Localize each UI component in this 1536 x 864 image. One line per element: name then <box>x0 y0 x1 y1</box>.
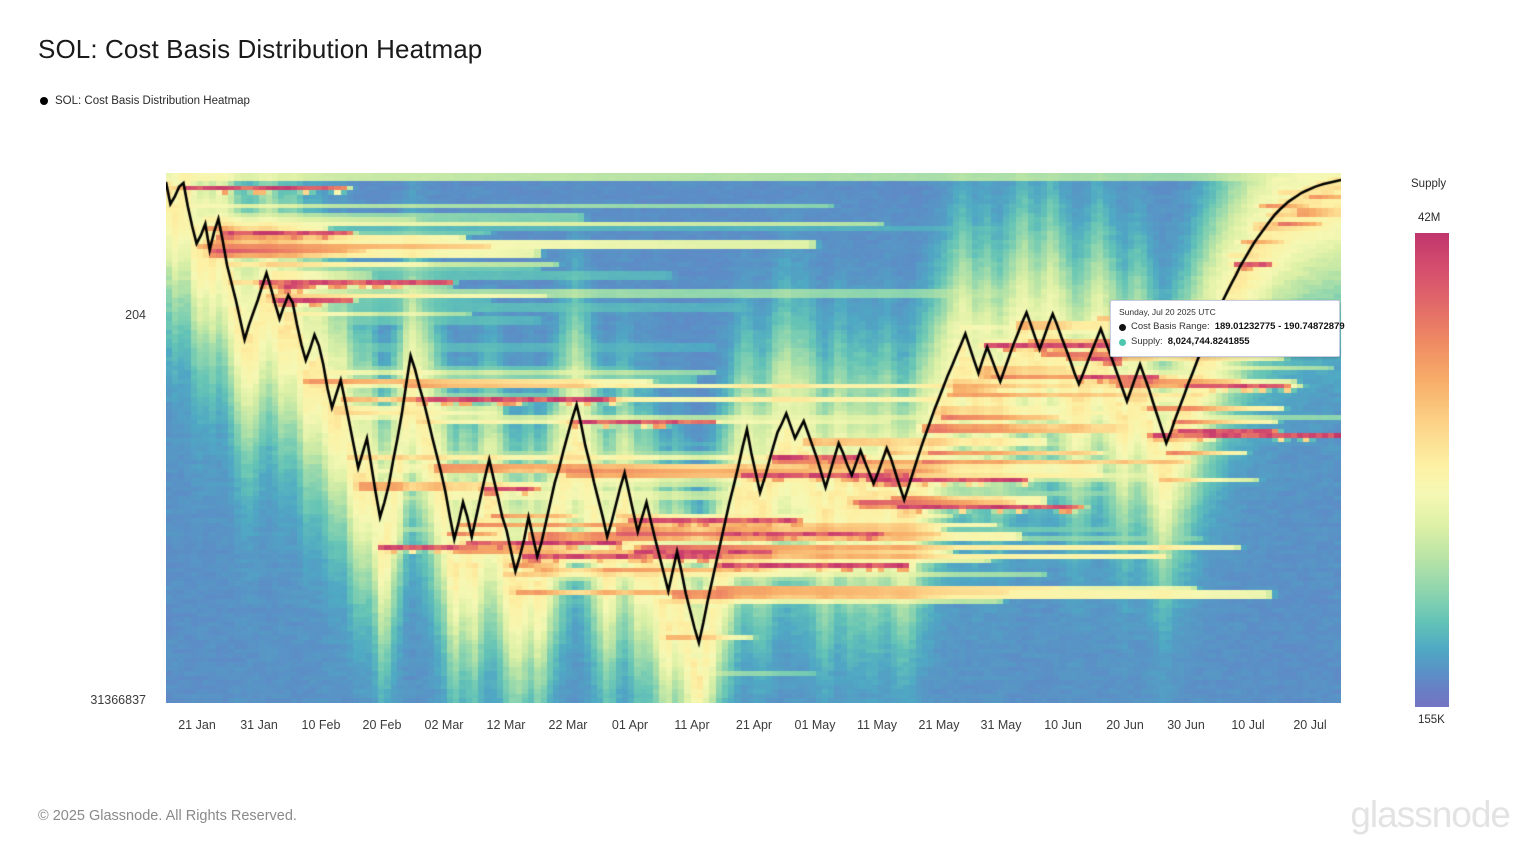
page-title: SOL: Cost Basis Distribution Heatmap <box>38 34 482 65</box>
x-tick-label: 12 Mar <box>487 718 526 732</box>
x-tick-label: 21 May <box>919 718 960 732</box>
x-tick-label: 02 Mar <box>425 718 464 732</box>
heatmap-plot[interactable] <box>166 173 1341 703</box>
x-tick-label: 30 Jun <box>1167 718 1205 732</box>
x-tick-label: 20 Feb <box>363 718 402 732</box>
colorbar-max-label: 42M <box>1418 212 1440 224</box>
y-axis: 204 31366837 <box>0 173 156 703</box>
x-axis: 21 Jan31 Jan10 Feb20 Feb02 Mar12 Mar22 M… <box>166 718 1341 740</box>
x-tick-label: 31 Jan <box>240 718 278 732</box>
chart-tooltip: Sunday, Jul 20 2025 UTC Cost Basis Range… <box>1110 300 1340 357</box>
x-tick-label: 10 Jun <box>1044 718 1082 732</box>
y-tick-upper: 204 <box>125 308 146 322</box>
glassnode-watermark-logo: glassnode <box>1350 794 1510 836</box>
x-tick-label: 20 Jun <box>1106 718 1144 732</box>
colorbar-gradient <box>1415 233 1449 707</box>
x-tick-label: 21 Apr <box>736 718 772 732</box>
x-tick-label: 22 Mar <box>549 718 588 732</box>
colorbar-legend: Supply 42M 155K <box>1380 176 1530 736</box>
footer-copyright: © 2025 Glassnode. All Rights Reserved. <box>38 808 297 824</box>
tooltip-row-cost-basis: Cost Basis Range: 189.01232775 - 190.748… <box>1119 320 1331 335</box>
tooltip-row-supply: Supply: 8,024,744.8241855 <box>1119 335 1331 350</box>
tooltip-label-supply: Supply: <box>1131 335 1163 350</box>
colorbar-min-label: 155K <box>1418 714 1445 726</box>
tooltip-value-cost-basis: 189.01232775 - 190.74872879 <box>1215 320 1345 335</box>
x-tick-label: 11 May <box>857 718 897 732</box>
legend-label: SOL: Cost Basis Distribution Heatmap <box>55 95 250 107</box>
x-tick-label: 01 Apr <box>612 718 648 732</box>
tooltip-dot-supply-icon <box>1119 339 1126 346</box>
y-tick-lower: 31366837 <box>90 693 146 707</box>
chart-legend[interactable]: SOL: Cost Basis Distribution Heatmap <box>40 95 250 107</box>
x-tick-label: 20 Jul <box>1293 718 1326 732</box>
price-line-overlay <box>166 173 1341 703</box>
tooltip-date: Sunday, Jul 20 2025 UTC <box>1119 306 1331 319</box>
tooltip-dot-cost-basis-icon <box>1119 324 1126 331</box>
x-tick-label: 10 Feb <box>302 718 341 732</box>
colorbar-title: Supply <box>1411 178 1446 190</box>
legend-dot-icon <box>40 97 48 105</box>
tooltip-label-cost-basis: Cost Basis Range: <box>1131 320 1210 335</box>
x-tick-label: 21 Jan <box>178 718 216 732</box>
x-tick-label: 31 May <box>981 718 1022 732</box>
x-tick-label: 01 May <box>795 718 836 732</box>
x-tick-label: 11 Apr <box>674 718 709 732</box>
x-tick-label: 10 Jul <box>1231 718 1264 732</box>
tooltip-value-supply: 8,024,744.8241855 <box>1168 335 1250 350</box>
